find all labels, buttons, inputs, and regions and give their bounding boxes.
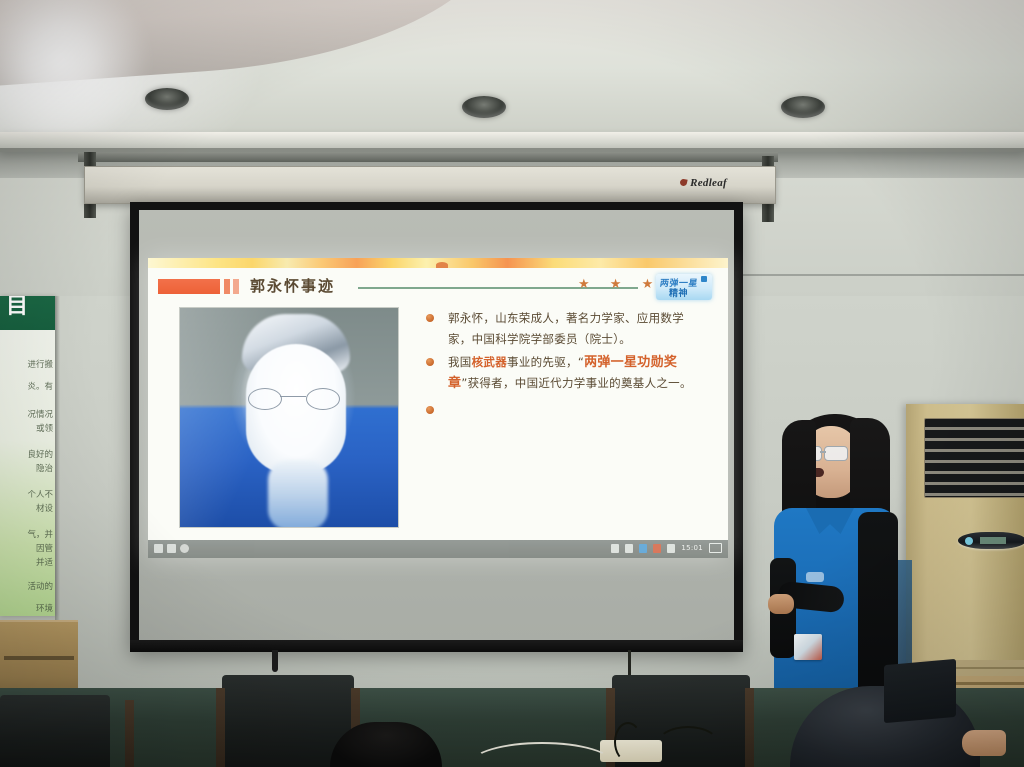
banner-glyph-icon: 目 — [6, 296, 28, 320]
browser-icon[interactable] — [180, 544, 189, 553]
presenter-shirt-logo — [806, 572, 824, 582]
banner-edge-shadow — [55, 296, 60, 622]
screenshot-root: 目 进行搬 炎。有 况情况 或领 良好的 隐治 个人不 材设 气，并 因管 并适… — [0, 0, 1024, 767]
cable — [614, 722, 642, 762]
leaf-icon — [679, 178, 687, 186]
ac-control-panel[interactable] — [958, 532, 1024, 549]
screen-bottom-bar — [130, 640, 743, 652]
slide-title-block: 郭永怀事迹 ★ ★ ★ 两弹一星 精神 — [158, 274, 718, 300]
light-glare — [0, 0, 160, 140]
ime-icon[interactable] — [667, 544, 675, 553]
screen-brand-text: Redleaf — [690, 177, 727, 189]
star-rating-icons: ★ ★ ★ — [578, 277, 661, 292]
taskbar-system-tray[interactable]: 15:01 — [611, 543, 722, 553]
slide-title: 郭永怀事迹 — [250, 275, 335, 296]
bullet-dot-icon — [426, 314, 434, 322]
ac-grille — [924, 418, 1024, 498]
bullet-dot-icon — [426, 406, 434, 414]
banner-text-line: 因管 — [36, 542, 53, 554]
monitor-icon[interactable] — [709, 543, 722, 553]
windows-taskbar[interactable]: 15:01 — [148, 540, 728, 558]
screen-rail — [78, 152, 778, 162]
bullet-2-segment-2: 事业的先驱，“ — [507, 355, 584, 369]
taskbar-left-icons[interactable] — [154, 544, 189, 553]
presenter-lanyard-badge — [794, 634, 822, 660]
badge-line-2: 精神 — [669, 286, 688, 299]
chair-post — [125, 700, 134, 767]
banner-text-line: 良好的 — [27, 448, 53, 460]
wall-banner: 目 进行搬 炎。有 况情况 或领 良好的 隐治 个人不 材设 气，并 因管 并适… — [0, 296, 55, 616]
chevron-up-icon[interactable] — [625, 544, 633, 553]
banner-text-line: 进行搬 — [27, 358, 53, 370]
badge-dot-icon — [701, 276, 707, 282]
course-badge: 两弹一星 精神 — [656, 274, 712, 300]
portrait-projector-sheen — [180, 308, 398, 527]
slide-bullet-list: 郭永怀，山东荣成人，著名力学家、应用数学家，中国科学院学部委员（院士）。 我国核… — [426, 308, 706, 423]
audience-hand — [962, 730, 1006, 756]
sound-icon[interactable] — [639, 544, 647, 553]
taskbar-clock[interactable]: 15:01 — [681, 544, 703, 552]
battery-icon[interactable] — [653, 544, 661, 553]
slide-decorative-band — [148, 258, 728, 268]
cable — [656, 726, 720, 764]
chair-post — [216, 688, 225, 767]
list-item — [426, 400, 706, 421]
banner-text-line: 况情况 — [27, 408, 53, 420]
banner-text-line: 气，并 — [27, 528, 53, 540]
ceiling-downlight-2 — [462, 96, 506, 118]
ceiling-downlight-3 — [781, 96, 825, 118]
bullet-dot-icon — [426, 358, 434, 366]
bullet-2-segment-0: 我国 — [448, 355, 472, 369]
presenter — [762, 412, 910, 702]
screen-brand-label: Redleaf — [680, 177, 727, 189]
list-item: 郭永怀，山东荣成人，著名力学家、应用数学家，中国科学院学部委员（院士）。 — [426, 308, 706, 350]
presenter-hand — [768, 594, 794, 614]
portrait-photo — [179, 307, 399, 528]
projector-screen-case: Redleaf — [84, 166, 776, 204]
chair — [0, 695, 110, 767]
title-accent-bar — [158, 279, 220, 294]
projected-slide: 郭永怀事迹 ★ ★ ★ 两弹一星 精神 郭永怀，山东荣成人，著名 — [148, 258, 728, 558]
bullet-2-segment-1: 核武器 — [472, 355, 507, 369]
ceiling — [0, 0, 1024, 150]
wall-seam — [740, 274, 1024, 276]
laptop — [884, 659, 956, 723]
bullet-text-3 — [448, 400, 706, 421]
start-icon[interactable] — [154, 544, 163, 553]
title-accent-stripe-1 — [224, 279, 230, 294]
banner-text-line: 环境 — [36, 602, 53, 614]
list-item: 我国核武器事业的先驱，“两弹一星功勋奖章”获得者，中国近代力学事业的奠基人之一。 — [426, 352, 706, 394]
banner-text-line: 并适 — [36, 556, 53, 568]
bullet-1-segment-0: 郭永怀，山东荣成人，著名力学家、应用数学家，中国科学院学部委员（院士）。 — [448, 311, 684, 346]
banner-text-line: 材设 — [36, 502, 53, 514]
screen-pull-handle[interactable] — [272, 650, 278, 672]
bullet-text-2: 我国核武器事业的先驱，“两弹一星功勋奖章”获得者，中国近代力学事业的奠基人之一。 — [448, 352, 706, 394]
banner-text-line: 或领 — [36, 422, 53, 434]
file-explorer-icon[interactable] — [167, 544, 176, 553]
banner-text-line: 炎。有 — [27, 380, 53, 392]
network-icon[interactable] — [611, 544, 619, 553]
ceiling-downlight-1 — [145, 88, 189, 110]
banner-text-line: 个人不 — [27, 488, 53, 500]
bullet-2-segment-4: ”获得者，中国近代力学事业的奠基人之一。 — [461, 376, 691, 390]
title-accent-stripe-2 — [233, 279, 239, 294]
banner-text-line: 活动的 — [27, 580, 53, 592]
air-conditioner — [906, 404, 1024, 700]
bullet-text-1: 郭永怀，山东荣成人，著名力学家、应用数学家，中国科学院学部委员（院士）。 — [448, 308, 706, 350]
banner-text-line: 隐治 — [36, 462, 53, 474]
chair-post — [745, 688, 754, 767]
